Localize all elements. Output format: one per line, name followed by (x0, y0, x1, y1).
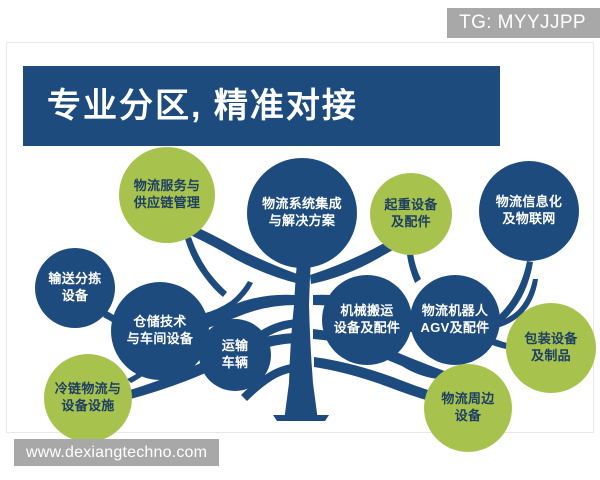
bubble-conveying-sorting-equipment[interactable]: 输送分拣 设备 (35, 248, 115, 328)
bubble-label: 物流机器人 AGV及配件 (421, 303, 490, 336)
bubble-logistics-peripheral-equipment[interactable]: 物流周边 设备 (424, 364, 512, 452)
website-watermark: www.dexiangtechno.com (14, 439, 219, 466)
website-watermark-label: www.dexiangtechno.com (26, 444, 207, 462)
bubble-label: 冷链物流与 设备设施 (55, 381, 122, 414)
bubble-label: 运输 车辆 (222, 338, 249, 371)
bubble-label: 物流服务与 供应链管理 (134, 178, 201, 211)
slide-canvas: 专业分区, 精准对接 物流服务与 供应链管理输送分拣 设备仓储技术 与车间设备冷… (6, 42, 594, 433)
bubble-label: 包装设备 及制品 (524, 331, 577, 364)
screenshot-stage: TG: MYYJJPP (0, 0, 600, 480)
bubble-label: 物流周边 设备 (441, 391, 494, 424)
bubble-logistics-service-supply-chain[interactable]: 物流服务与 供应链管理 (119, 147, 215, 243)
bubble-label: 物流系统集成 与解决方案 (262, 196, 342, 229)
bubble-logistics-system-integration-solutions[interactable]: 物流系统集成 与解决方案 (247, 158, 357, 268)
bubble-logistics-informatization-iot[interactable]: 物流信息化 及物联网 (479, 161, 579, 261)
telegram-watermark: TG: MYYJJPP (447, 8, 600, 38)
bubble-lifting-equipment-parts[interactable]: 起重设备 及配件 (370, 173, 452, 255)
bubble-label: 机械搬运 设备及配件 (334, 303, 401, 336)
bubble-label: 输送分拣 设备 (48, 271, 101, 304)
bubble-packaging-equipment-products[interactable]: 包装设备 及制品 (506, 303, 596, 393)
bubble-label: 起重设备 及配件 (384, 197, 437, 230)
bubble-mechanical-handling-equipment[interactable]: 机械搬运 设备及配件 (322, 275, 412, 365)
telegram-watermark-label: TG: MYYJJPP (459, 12, 586, 34)
bubble-label: 仓储技术 与车间设备 (127, 314, 194, 347)
bubble-logistics-robot-agv[interactable]: 物流机器人 AGV及配件 (410, 275, 500, 365)
bubble-cold-chain-logistics-facilities[interactable]: 冷链物流与 设备设施 (44, 354, 132, 442)
bubble-label: 物流信息化 及物联网 (496, 194, 563, 227)
bubble-warehouse-tech-workshop-equipment[interactable]: 仓储技术 与车间设备 (111, 282, 209, 380)
bubble-transport-vehicles[interactable]: 运输 车辆 (199, 319, 271, 391)
